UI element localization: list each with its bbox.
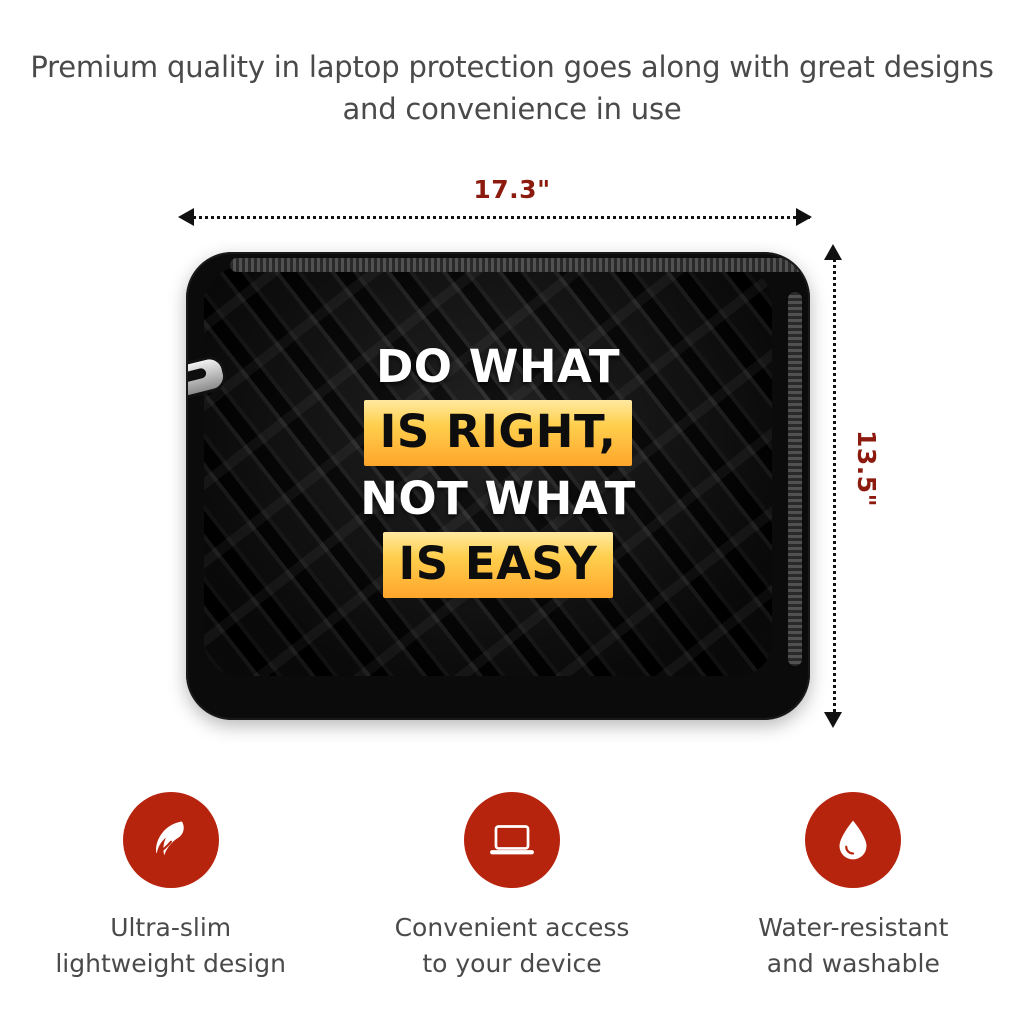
height-arrow-down-icon [824, 712, 842, 728]
water-drop-icon [805, 792, 901, 888]
width-dimension-label: 17.3" [0, 175, 1024, 204]
quote-line-3: NOT WHAT [186, 470, 810, 528]
laptop-icon [464, 792, 560, 888]
quote-line-4: IS EASY [383, 532, 614, 598]
feather-icon [123, 792, 219, 888]
width-arrow-left-icon [178, 208, 194, 226]
feature-list: Ultra-slim lightweight design Convenient… [0, 792, 1024, 982]
product-image: DO WHAT IS RIGHT, NOT WHAT IS EASY [186, 252, 810, 720]
feature-label-water-resistant: Water-resistant and washable [683, 910, 1024, 982]
height-dimension-label: 13.5" [852, 430, 881, 507]
width-dimension-line [186, 216, 810, 221]
quote-line-1: DO WHAT [186, 338, 810, 396]
zipper-top [230, 258, 804, 272]
feature-label-convenient-access: Convenient access to your device [341, 910, 682, 982]
product-quote: DO WHAT IS RIGHT, NOT WHAT IS EASY [186, 334, 810, 602]
feature-item-ultra-slim: Ultra-slim lightweight design [0, 792, 341, 982]
width-arrow-right-icon [796, 208, 812, 226]
page-headline: Premium quality in laptop protection goe… [0, 46, 1024, 130]
height-dimension-line [833, 258, 838, 720]
sleeve-body: DO WHAT IS RIGHT, NOT WHAT IS EASY [186, 252, 810, 720]
feature-item-water-resistant: Water-resistant and washable [683, 792, 1024, 982]
feature-item-convenient-access: Convenient access to your device [341, 792, 682, 982]
height-arrow-up-icon [824, 244, 842, 260]
quote-line-2: IS RIGHT, [364, 400, 633, 466]
feature-label-ultra-slim: Ultra-slim lightweight design [0, 910, 341, 982]
